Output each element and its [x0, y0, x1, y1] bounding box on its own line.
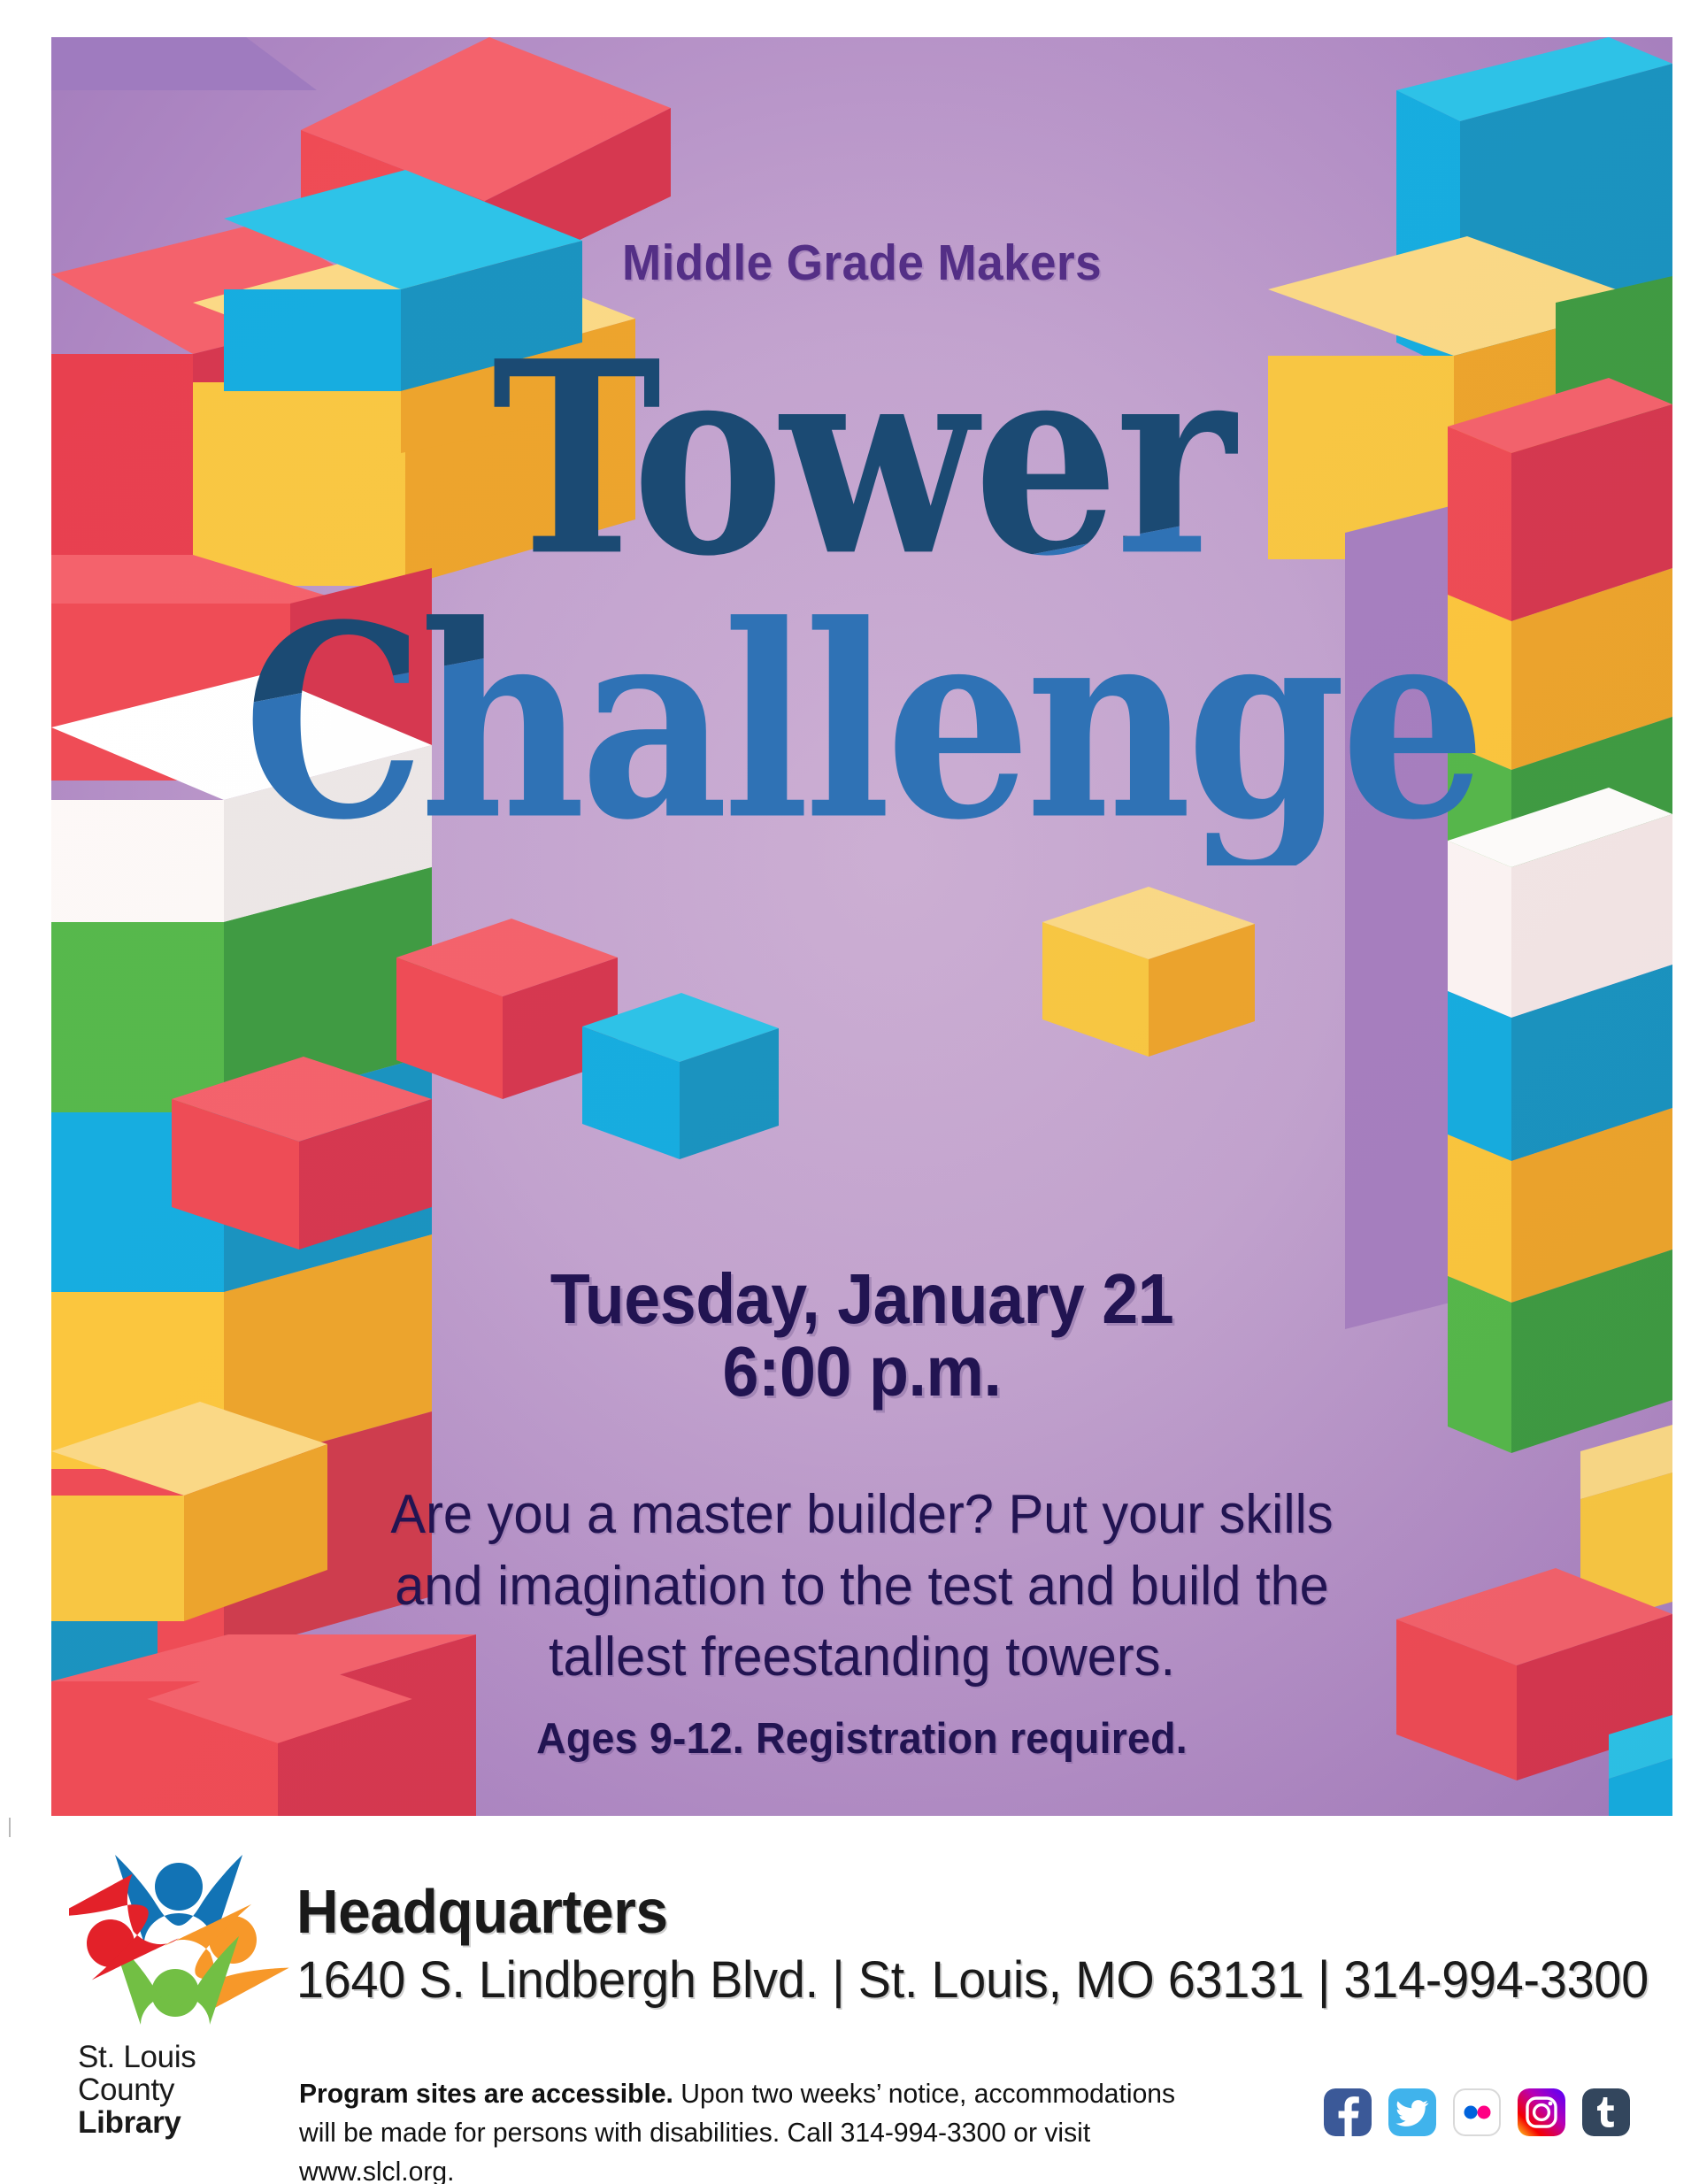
logo-wordmark-line3: Library [78, 2106, 290, 2139]
logo-wordmark-line2: County [78, 2073, 290, 2106]
social-media-links [1324, 2081, 1642, 2143]
description-line-1: Are you a master builder? Put your skill… [339, 1480, 1386, 1551]
poster-eyebrow: Middle Grade Makers [108, 234, 1616, 292]
accessibility-notice: Program sites are accessible. Upon two w… [299, 2074, 1209, 2184]
instagram-icon[interactable] [1518, 2088, 1565, 2136]
event-date: Tuesday, January 21 [116, 1263, 1607, 1335]
ages-and-registration-note: Ages 9-12. Registration required. [92, 1714, 1632, 1764]
event-time: 6:00 p.m. [116, 1335, 1607, 1408]
logo-wordmark: St. Louis County Library [78, 2041, 290, 2139]
event-description: Are you a master builder? Put your skill… [339, 1480, 1386, 1694]
poster: Middle Grade Makers Tower Tower [0, 0, 1699, 2184]
tumblr-icon[interactable] [1582, 2088, 1630, 2136]
branch-address: 1640 S. Lindbergh Blvd. | St. Louis, MO … [296, 1950, 1649, 2010]
description-line-2: and imagination to the test and build th… [339, 1551, 1386, 1623]
flickr-icon[interactable] [1453, 2088, 1501, 2136]
event-datetime: Tuesday, January 21 6:00 p.m. [51, 1263, 1672, 1407]
branch-name: Headquarters [296, 1876, 668, 1947]
library-logo: St. Louis County Library [69, 1844, 290, 2136]
poster-title: Tower Tower Challenge Challenge [51, 299, 1672, 865]
accessibility-notice-headline: Program sites are accessible. [299, 2078, 673, 2109]
logo-pinwheel-mark [69, 1844, 290, 2039]
title-artwork: Tower Tower Challenge Challenge [51, 299, 1672, 865]
facebook-icon[interactable] [1324, 2088, 1372, 2136]
poster-text-column: Middle Grade Makers Tower Tower [51, 37, 1672, 1816]
description-line-3: tallest freestanding towers. [339, 1622, 1386, 1694]
poster-artwork: Middle Grade Makers Tower Tower [51, 37, 1672, 1816]
logo-wordmark-line1: St. Louis [78, 2041, 290, 2073]
twitter-icon[interactable] [1388, 2088, 1436, 2136]
crop-tick-mark [9, 1818, 11, 1837]
slcl-people-icon [69, 1844, 290, 2039]
